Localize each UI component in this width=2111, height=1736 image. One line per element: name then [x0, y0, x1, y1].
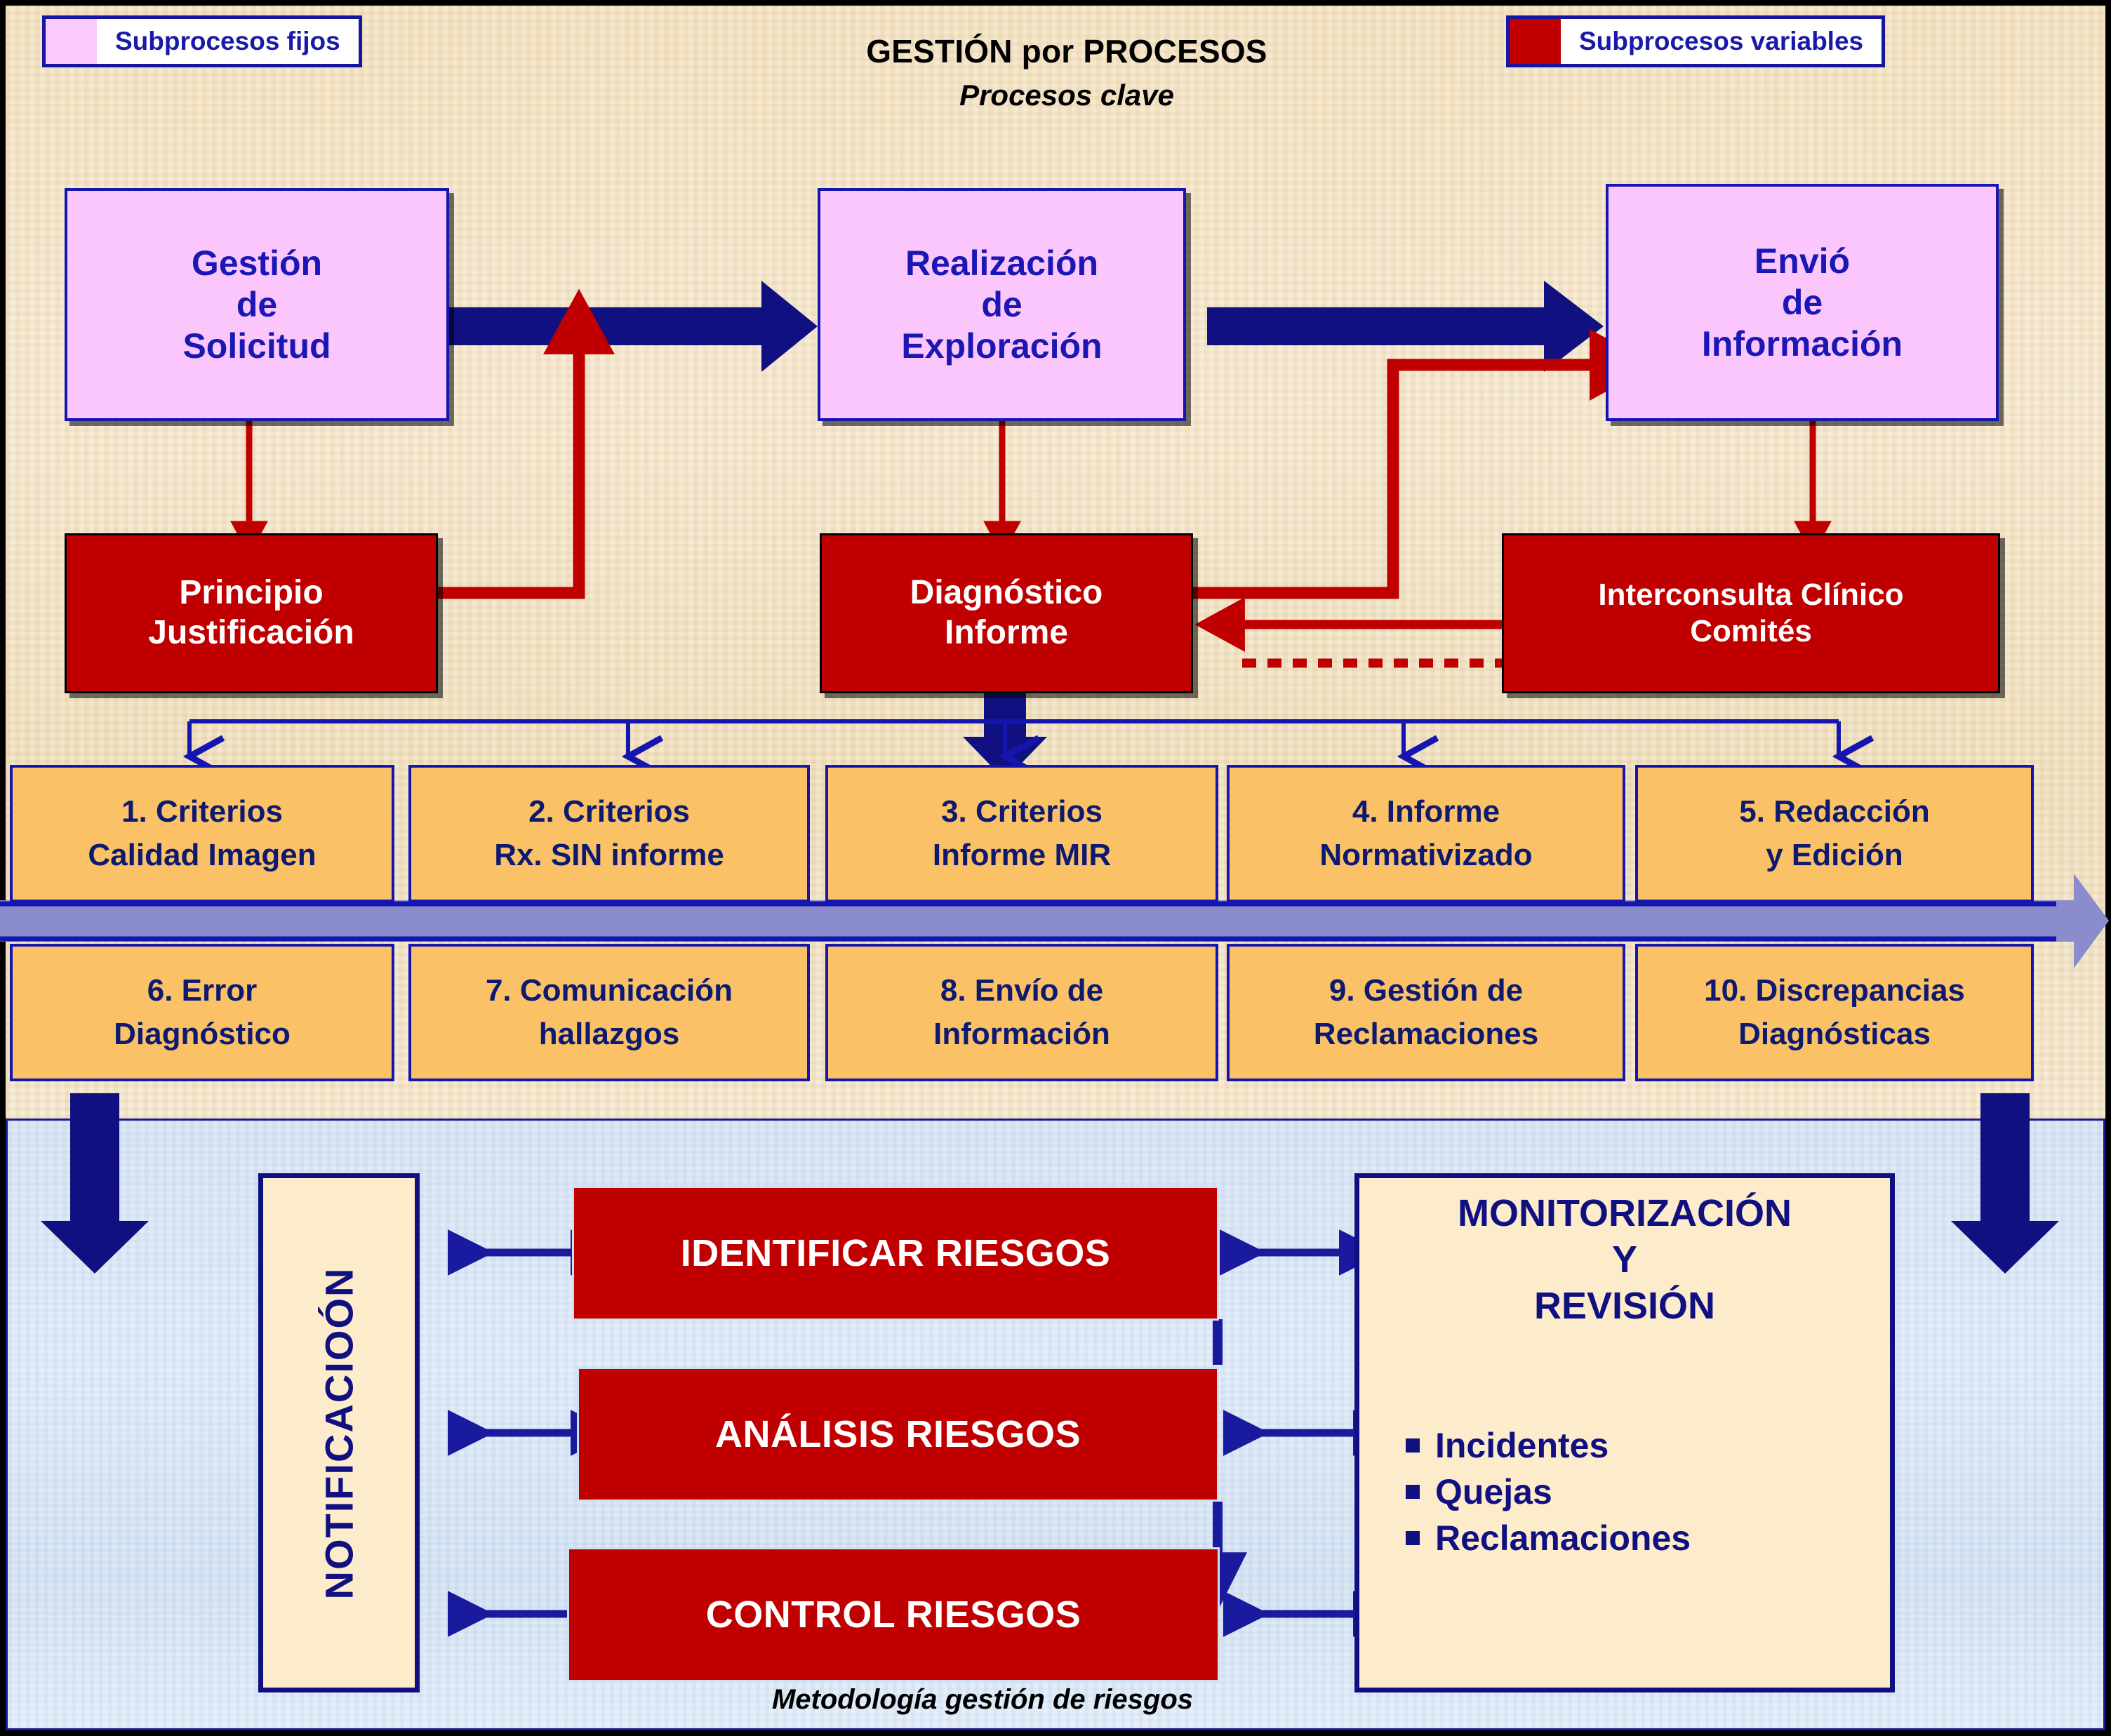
legend-fixed-subprocesses: Subprocesos fijos [42, 15, 362, 67]
subprocess-box-5[interactable]: 5. Redacción y Edición [1635, 765, 2034, 902]
subprocess-line-1: 9. Gestión de [1329, 971, 1523, 1010]
monitoring-review-box[interactable]: MONITORIZACIÓN Y REVISIÓN Incidentes Que… [1354, 1173, 1895, 1692]
notification-box[interactable]: NOTIFICACIOÓN [258, 1173, 420, 1692]
monitoring-item-list: Incidentes Quejas Reclamaciones [1378, 1425, 1872, 1558]
process-line: Gestión [192, 243, 322, 284]
legend-swatch-fixed [42, 15, 97, 67]
process-box-realizacion-exploracion[interactable]: Realización de Exploración [818, 188, 1186, 421]
monitoring-item: Quejas [1406, 1471, 1872, 1512]
process-box-interconsulta-comites[interactable]: Interconsulta Clínico Comités [1502, 533, 2000, 693]
risk-step-label: ANÁLISIS RIESGOS [715, 1413, 1081, 1456]
subprocess-line-1: 3. Criterios [941, 792, 1103, 832]
monitoring-title: MONITORIZACIÓN Y REVISIÓN [1378, 1191, 1872, 1330]
subprocess-line-2: Normativizado [1319, 836, 1532, 875]
subprocess-line-1: 10. Discrepancias [1704, 971, 1965, 1010]
bullet-icon [1406, 1531, 1420, 1545]
process-line: de [1782, 282, 1823, 323]
subprocess-box-8[interactable]: 8. Envío de Información [825, 944, 1218, 1081]
process-line: Envió [1754, 241, 1850, 282]
process-line: Comités [1690, 613, 1812, 650]
process-line: Diagnóstico [910, 573, 1103, 613]
risk-step-identificar[interactable]: IDENTIFICAR RIESGOS [572, 1186, 1219, 1321]
process-box-principio-justificacion[interactable]: Principio Justificación [65, 533, 438, 693]
monitoring-title-line: Y [1378, 1237, 1872, 1283]
monitoring-item-label: Quejas [1435, 1471, 1552, 1512]
subprocess-line-1: 5. Redacción [1739, 792, 1929, 832]
subprocess-box-1[interactable]: 1. Criterios Calidad Imagen [10, 765, 394, 902]
subprocess-line-2: Reclamaciones [1314, 1015, 1538, 1054]
subprocess-line-1: 7. Comunicación [486, 971, 733, 1010]
risk-step-label: IDENTIFICAR RIESGOS [681, 1231, 1111, 1275]
diagram-canvas: Subprocesos fijos Subprocesos variables … [0, 0, 2111, 1736]
process-line: Justificación [148, 613, 354, 653]
subprocess-box-10[interactable]: 10. Discrepancias Diagnósticas [1635, 944, 2034, 1081]
subprocess-line-2: hallazgos [539, 1015, 680, 1054]
subprocess-line-2: Información [933, 1015, 1110, 1054]
process-box-gestion-solicitud[interactable]: Gestión de Solicitud [65, 188, 449, 421]
diagram-title: GESTIÓN por PROCESOS [786, 32, 1347, 70]
diagram-subtitle: Procesos clave [786, 79, 1347, 112]
process-line: Interconsulta Clínico [1598, 577, 1903, 613]
risk-panel-caption: Metodología gestión de riesgos [632, 1684, 1333, 1716]
monitoring-item-label: Incidentes [1435, 1425, 1609, 1466]
subprocess-line-1: 4. Informe [1352, 792, 1500, 832]
bullet-icon [1406, 1485, 1420, 1499]
process-line: Solicitud [182, 326, 331, 367]
risk-step-label: CONTROL RIESGOS [706, 1593, 1081, 1636]
legend-label-variable: Subprocesos variables [1561, 15, 1885, 67]
bullet-icon [1406, 1438, 1420, 1453]
legend-label-fixed: Subprocesos fijos [97, 15, 362, 67]
subprocess-box-2[interactable]: 2. Criterios Rx. SIN informe [408, 765, 810, 902]
subprocess-box-3[interactable]: 3. Criterios Informe MIR [825, 765, 1218, 902]
process-box-envio-informacion[interactable]: Envió de Información [1606, 184, 1999, 421]
process-line: de [237, 284, 277, 326]
process-line: Información [1702, 323, 1903, 365]
monitoring-item: Incidentes [1406, 1425, 1872, 1466]
subprocess-box-6[interactable]: 6. Error Diagnóstico [10, 944, 394, 1081]
subprocess-box-7[interactable]: 7. Comunicación hallazgos [408, 944, 810, 1081]
subprocess-line-1: 1. Criterios [121, 792, 283, 832]
monitoring-title-line: REVISIÓN [1378, 1283, 1872, 1330]
monitoring-title-line: MONITORIZACIÓN [1378, 1191, 1872, 1237]
subprocess-line-2: y Edición [1766, 836, 1903, 875]
notification-label: NOTIFICACIOÓN [317, 1267, 362, 1599]
subprocess-line-2: Rx. SIN informe [494, 836, 724, 875]
legend-swatch-variable [1506, 15, 1561, 67]
subprocess-line-1: 2. Criterios [528, 792, 690, 832]
subprocess-line-2: Diagnóstico [114, 1015, 291, 1054]
subprocess-box-9[interactable]: 9. Gestión de Reclamaciones [1227, 944, 1625, 1081]
subprocess-line-2: Informe MIR [933, 836, 1111, 875]
process-line: Principio [179, 573, 323, 613]
process-line: de [981, 284, 1022, 326]
subprocess-line-1: 6. Error [147, 971, 258, 1010]
process-line: Informe [945, 613, 1068, 653]
process-line: Realización [905, 243, 1098, 284]
legend-variable-subprocesses: Subprocesos variables [1506, 15, 1885, 67]
risk-step-analisis[interactable]: ANÁLISIS RIESGOS [577, 1367, 1219, 1502]
process-box-diagnostico-informe[interactable]: Diagnóstico Informe [820, 533, 1193, 693]
subprocess-line-2: Diagnósticas [1738, 1015, 1931, 1054]
risk-step-control[interactable]: CONTROL RIESGOS [567, 1547, 1220, 1682]
subprocess-box-4[interactable]: 4. Informe Normativizado [1227, 765, 1625, 902]
subprocess-line-1: 8. Envío de [940, 971, 1103, 1010]
process-line: Exploración [901, 326, 1102, 367]
monitoring-item-label: Reclamaciones [1435, 1518, 1691, 1558]
subprocess-line-2: Calidad Imagen [88, 836, 316, 875]
monitoring-item: Reclamaciones [1406, 1518, 1872, 1558]
